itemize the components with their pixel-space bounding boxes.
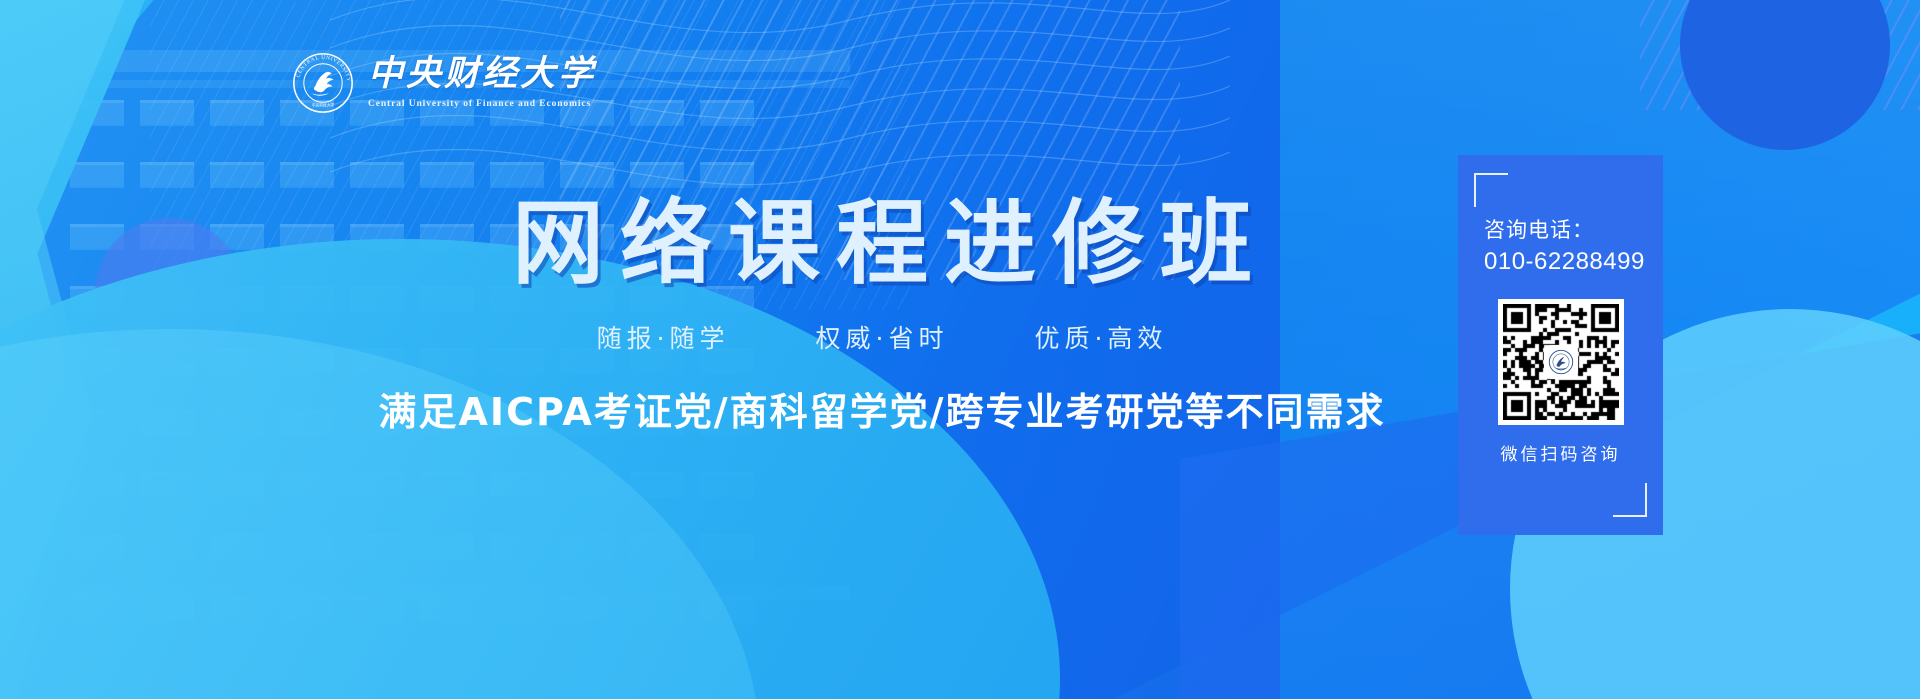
feature-item-3: 优质·高效 <box>1034 319 1167 355</box>
svg-text:中央财经大学: 中央财经大学 <box>312 103 335 108</box>
contact-panel: 咨询电话： 010-62288499 微信扫码咨询 <box>1458 155 1663 535</box>
feature-item-2: 权威·省时 <box>816 319 949 355</box>
university-logo: CENTRAL UNIVERSITY OF FINANCE AND ECONOM… <box>292 52 596 114</box>
corner-bracket-bottom-right <box>1613 483 1647 517</box>
logo-name-cn: 中央财经大学 <box>368 57 596 92</box>
feature-item-1: 随报·随学 <box>597 319 730 355</box>
qr-code-icon[interactable] <box>1498 299 1624 425</box>
corner-bracket-top-left <box>1474 173 1508 207</box>
phone-number[interactable]: 010-62288499 <box>1484 248 1645 276</box>
banner-tagline: 满足AICPA考证党/商科留学党/跨专业考研党等不同需求 <box>362 381 1402 436</box>
banner-title: 网络课程进修班 <box>362 196 1402 293</box>
feature-list: 随报·随学 权威·省时 优质·高效 <box>362 319 1402 355</box>
university-seal-icon: CENTRAL UNIVERSITY OF FINANCE AND ECONOM… <box>292 52 354 114</box>
wechat-caption: 微信扫码咨询 <box>1501 440 1621 465</box>
logo-text-block: 中央财经大学 Central University of Finance and… <box>368 57 596 109</box>
qr-center-seal-icon <box>1546 347 1576 377</box>
headline-block: 网络课程进修班 随报·随学 权威·省时 优质·高效 满足AICPA考证党/商科留… <box>362 196 1402 436</box>
logo-name-en: Central University of Finance and Econom… <box>368 99 596 109</box>
phone-label: 咨询电话： <box>1484 214 1594 244</box>
promo-banner: CENTRAL UNIVERSITY OF FINANCE AND ECONOM… <box>0 0 1920 699</box>
